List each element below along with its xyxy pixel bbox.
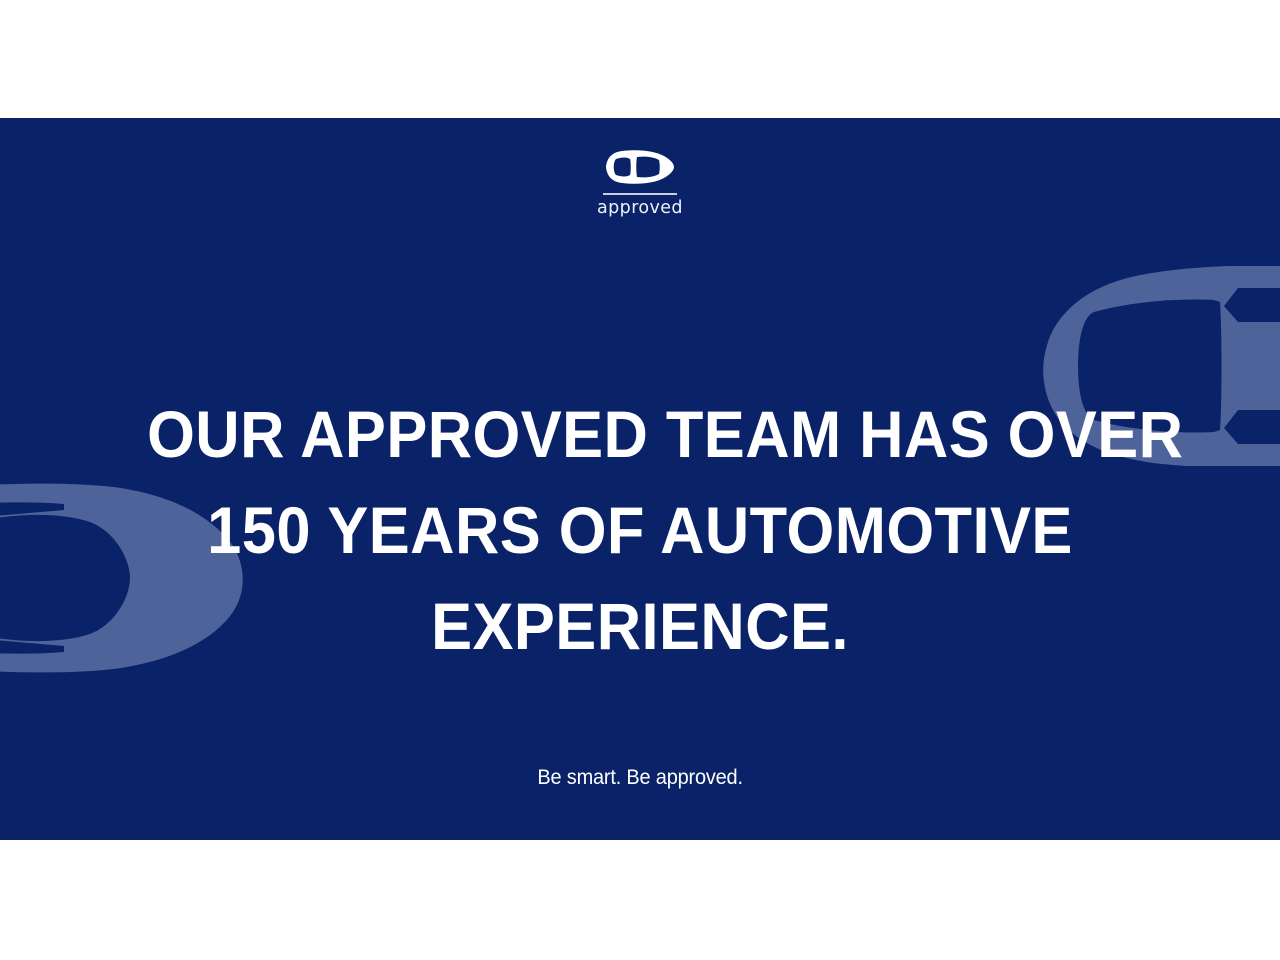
headline-line-2: 150 YEARS OF AUTOMOTIVE xyxy=(147,482,1133,578)
logo-divider-rule xyxy=(603,193,677,195)
page-canvas: approved OUR APPROVED TEAM HAS OVER 150 … xyxy=(0,0,1280,960)
headline-line-3: EXPERIENCE. xyxy=(147,578,1133,674)
headline-line-1: OUR APPROVED TEAM HAS OVER xyxy=(147,386,1133,482)
brand-logo: approved xyxy=(0,150,1280,218)
logo-wordmark: approved xyxy=(597,200,683,218)
approved-car-logo-icon xyxy=(605,150,675,184)
tagline-text: Be smart. Be approved. xyxy=(537,766,742,790)
hero-banner: approved OUR APPROVED TEAM HAS OVER 150 … xyxy=(0,118,1280,840)
headline: OUR APPROVED TEAM HAS OVER 150 YEARS OF … xyxy=(110,386,1170,674)
tagline: Be smart. Be approved. xyxy=(0,766,1280,790)
